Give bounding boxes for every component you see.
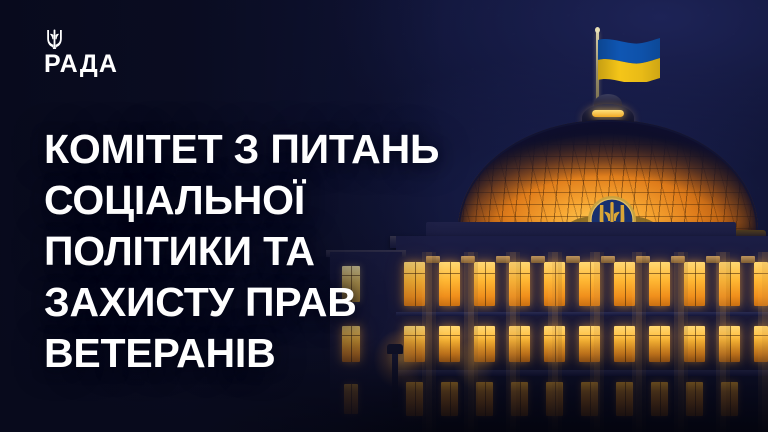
window	[651, 382, 668, 416]
window	[579, 326, 600, 362]
column-capital	[601, 256, 615, 263]
lantern-light	[592, 110, 624, 117]
window	[544, 262, 565, 306]
rada-logo[interactable]: РАДА	[44, 28, 194, 77]
trident-icon	[44, 28, 194, 49]
banner-canvas: РАДА КОМІТЕТ З ПИТАНЬ СОЦІАЛЬНОЇ ПОЛІТИК…	[0, 0, 768, 432]
window	[649, 262, 670, 306]
window	[344, 384, 358, 414]
window	[686, 382, 703, 416]
window	[614, 326, 635, 362]
window	[754, 326, 768, 362]
title-line-3: ПОЛІТИКИ ТА	[44, 226, 514, 277]
title-line-5: ВЕТЕРАНІВ	[44, 328, 514, 379]
page-title: КОМІТЕТ З ПИТАНЬ СОЦІАЛЬНОЇ ПОЛІТИКИ ТА …	[44, 124, 514, 379]
window	[511, 382, 528, 416]
title-line-1: КОМІТЕТ З ПИТАНЬ	[44, 124, 514, 175]
window	[649, 326, 670, 362]
window	[614, 262, 635, 306]
window	[684, 262, 705, 306]
window	[579, 262, 600, 306]
column-capital	[566, 256, 580, 263]
window	[754, 262, 768, 306]
rada-wordmark: РАДА	[44, 52, 194, 77]
column-capital	[531, 256, 545, 263]
window	[441, 382, 458, 416]
column-capital	[741, 256, 755, 263]
window	[546, 382, 563, 416]
window	[581, 382, 598, 416]
ukrainian-flag-icon	[598, 38, 660, 82]
window	[544, 326, 565, 362]
window	[406, 382, 423, 416]
column-capital	[636, 256, 650, 263]
window	[719, 262, 740, 306]
title-line-4: ЗАХИСТУ ПРАВ	[44, 277, 514, 328]
window	[721, 382, 738, 416]
window	[616, 382, 633, 416]
window	[684, 326, 705, 362]
window	[719, 326, 740, 362]
column-capital	[706, 256, 720, 263]
title-line-2: СОЦІАЛЬНОЇ	[44, 175, 514, 226]
window	[476, 382, 493, 416]
column-capital	[671, 256, 685, 263]
